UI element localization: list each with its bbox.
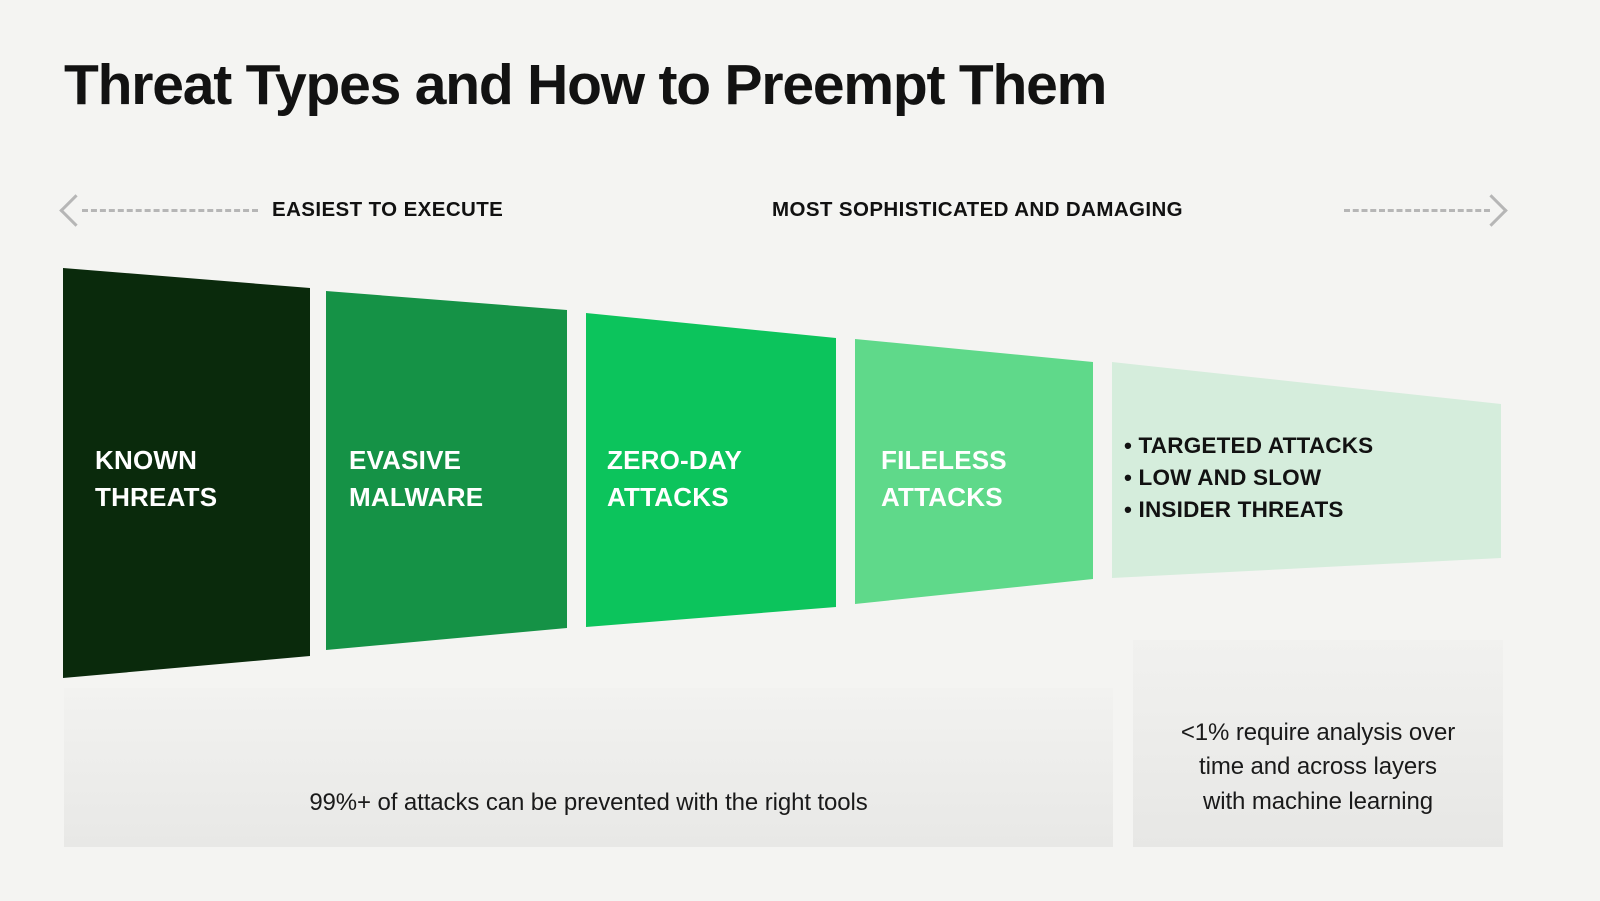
- funnel-label-fileless-attacks: FILELESS ATTACKS: [881, 442, 1007, 516]
- caption-panel-analysis: <1% require analysis over time and acros…: [1133, 640, 1503, 847]
- bullet-item-insider-threats: • INSIDER THREATS: [1124, 494, 1373, 526]
- axis-right-label: MOST SOPHISTICATED AND DAMAGING: [772, 192, 1183, 228]
- funnel-segment-zero-day-attacks: [586, 313, 836, 627]
- funnel-segment-fileless-attacks: [855, 339, 1093, 604]
- bullet-item-targeted-attacks: • TARGETED ATTACKS: [1124, 430, 1373, 462]
- arrow-right-dashed-icon: [1475, 194, 1508, 227]
- caption-panel-prevented: 99%+ of attacks can be prevented with th…: [64, 688, 1113, 847]
- infographic-stage: Threat Types and How to Preempt Them EAS…: [0, 0, 1600, 901]
- axis-row: EASIEST TO EXECUTE MOST SOPHISTICATED AN…: [0, 192, 1600, 228]
- funnel-segment-known-threats: [63, 268, 310, 678]
- bullet-item-low-and-slow: • LOW AND SLOW: [1124, 462, 1373, 494]
- funnel-label-evasive-malware: EVASIVE MALWARE: [349, 442, 483, 516]
- caption-right-text: <1% require analysis over time and acros…: [1181, 668, 1455, 818]
- funnel-bullet-list: • TARGETED ATTACKS • LOW AND SLOW • INSI…: [1124, 430, 1373, 526]
- axis-right-dashed-line: [1344, 209, 1490, 212]
- funnel-segment-evasive-malware: [326, 291, 567, 650]
- funnel-label-known-threats: KNOWN THREATS: [95, 442, 217, 516]
- funnel-label-zero-day-attacks: ZERO-DAY ATTACKS: [607, 442, 742, 516]
- page-title: Threat Types and How to Preempt Them: [64, 56, 1106, 116]
- axis-left-dashed-line: [82, 209, 258, 212]
- funnel-segment-advanced-threats: [1112, 362, 1501, 578]
- caption-left-text: 99%+ of attacks can be prevented with th…: [309, 715, 867, 819]
- axis-left-label: EASIEST TO EXECUTE: [272, 192, 503, 228]
